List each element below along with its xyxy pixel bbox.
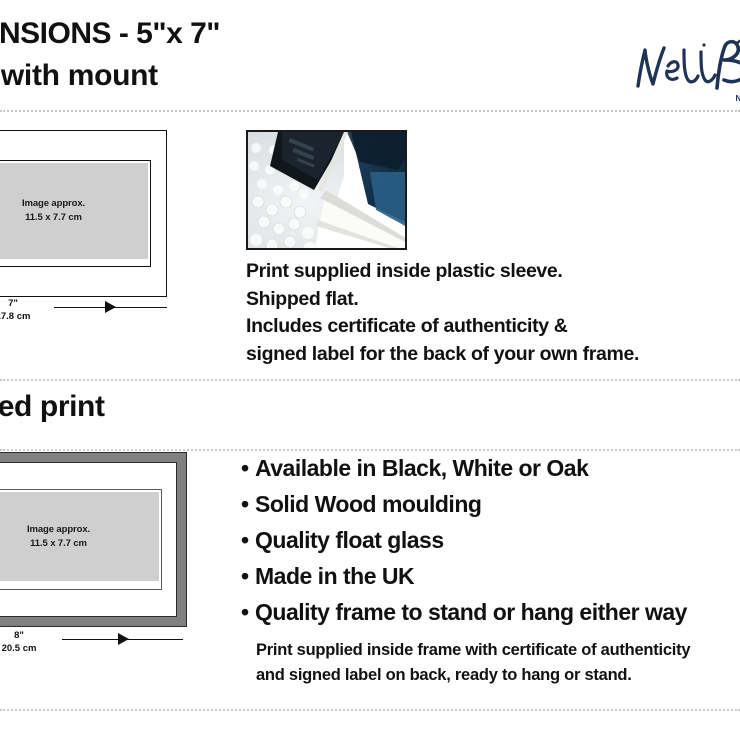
list-item: •Quality float glass [241,522,740,558]
list-item-label: Quality frame to stand or hang either wa… [255,599,687,625]
mount-dimension-cm: 17.8 cm [0,311,49,324]
framed-section-heading: Framed print [0,390,105,424]
mount-description-line: Print supplied inside plastic sleeve. [246,258,740,286]
bullet-icon: • [241,558,255,594]
list-item: •Available in Black, White or Oak [241,450,740,486]
frame-dimension-label: 8" 20.5 cm [0,630,62,656]
frame-window: Image approx. 11.5 x 7.7 cm [0,489,162,590]
page-header: DIMENSIONS - 5"x 7" Print with mount [0,18,526,91]
page-title: DIMENSIONS - 5"x 7" [0,18,526,50]
bullet-icon: • [241,522,255,558]
list-item-label: Quality float glass [255,527,444,553]
dimensions-info-page: DIMENSIONS - 5"x 7" Print with mount NB … [0,0,740,736]
frame-diagram: Image approx. 11.5 x 7.7 cm [0,452,187,627]
mount-dimension-arrow: 7" 17.8 cm [0,298,175,332]
divider-top [0,110,740,113]
arrow-head-icon [105,301,116,313]
frame-image-label-line1: Image approx. [27,523,90,537]
frame-mount: Image approx. 11.5 x 7.7 cm [0,462,177,617]
frame-dimension-arrow: 8" 20.5 cm [0,630,190,664]
bullet-icon: • [241,486,255,522]
mount-image-label-line1: Image approx. [22,197,85,211]
list-item-label: Made in the UK [255,563,414,589]
mounted-prints-photo [246,130,407,250]
mount-description-line: Shipped flat. [246,286,740,314]
arrow-head-icon [118,633,129,645]
frame-dimension-inches: 8" [14,630,24,641]
mount-image-area: Image approx. 11.5 x 7.7 cm [0,163,148,259]
framed-description-line: and signed label on back, ready to hang … [256,663,740,688]
mount-dimension-inches: 7" [8,298,18,309]
framed-feature-list: •Available in Black, White or Oak •Solid… [241,450,740,631]
bullet-icon: • [241,594,255,630]
frame-image-area: Image approx. 11.5 x 7.7 cm [0,492,159,581]
framed-description-line: Print supplied inside frame with certifi… [256,638,740,663]
mount-description-line: signed label for the back of your own fr… [246,341,740,369]
artist-signature-logo: NB [632,36,740,104]
monogram-label: NB [735,94,740,103]
list-item: •Quality frame to stand or hang either w… [241,594,740,630]
frame-dimension-cm: 20.5 cm [0,643,57,656]
mount-diagram: Image approx. 11.5 x 7.7 cm [0,130,167,297]
framed-description: Print supplied inside frame with certifi… [256,638,740,688]
list-item: •Solid Wood moulding [241,486,740,522]
mount-image-label-line2: 11.5 x 7.7 cm [25,211,82,225]
divider-bottom [0,709,740,712]
mount-window: Image approx. 11.5 x 7.7 cm [0,160,151,267]
mount-description-line: Includes certificate of authenticity & [246,313,740,341]
page-subtitle: Print with mount [0,60,526,92]
mount-dimension-label: 7" 17.8 cm [0,298,54,324]
mount-description: Print supplied inside plastic sleeve. Sh… [246,258,740,369]
list-item: •Made in the UK [241,558,740,594]
list-item-label: Solid Wood moulding [255,491,481,517]
divider-middle-upper [0,379,740,382]
list-item-label: Available in Black, White or Oak [255,455,588,481]
bullet-icon: • [241,450,255,486]
frame-image-label-line2: 11.5 x 7.7 cm [30,537,87,551]
